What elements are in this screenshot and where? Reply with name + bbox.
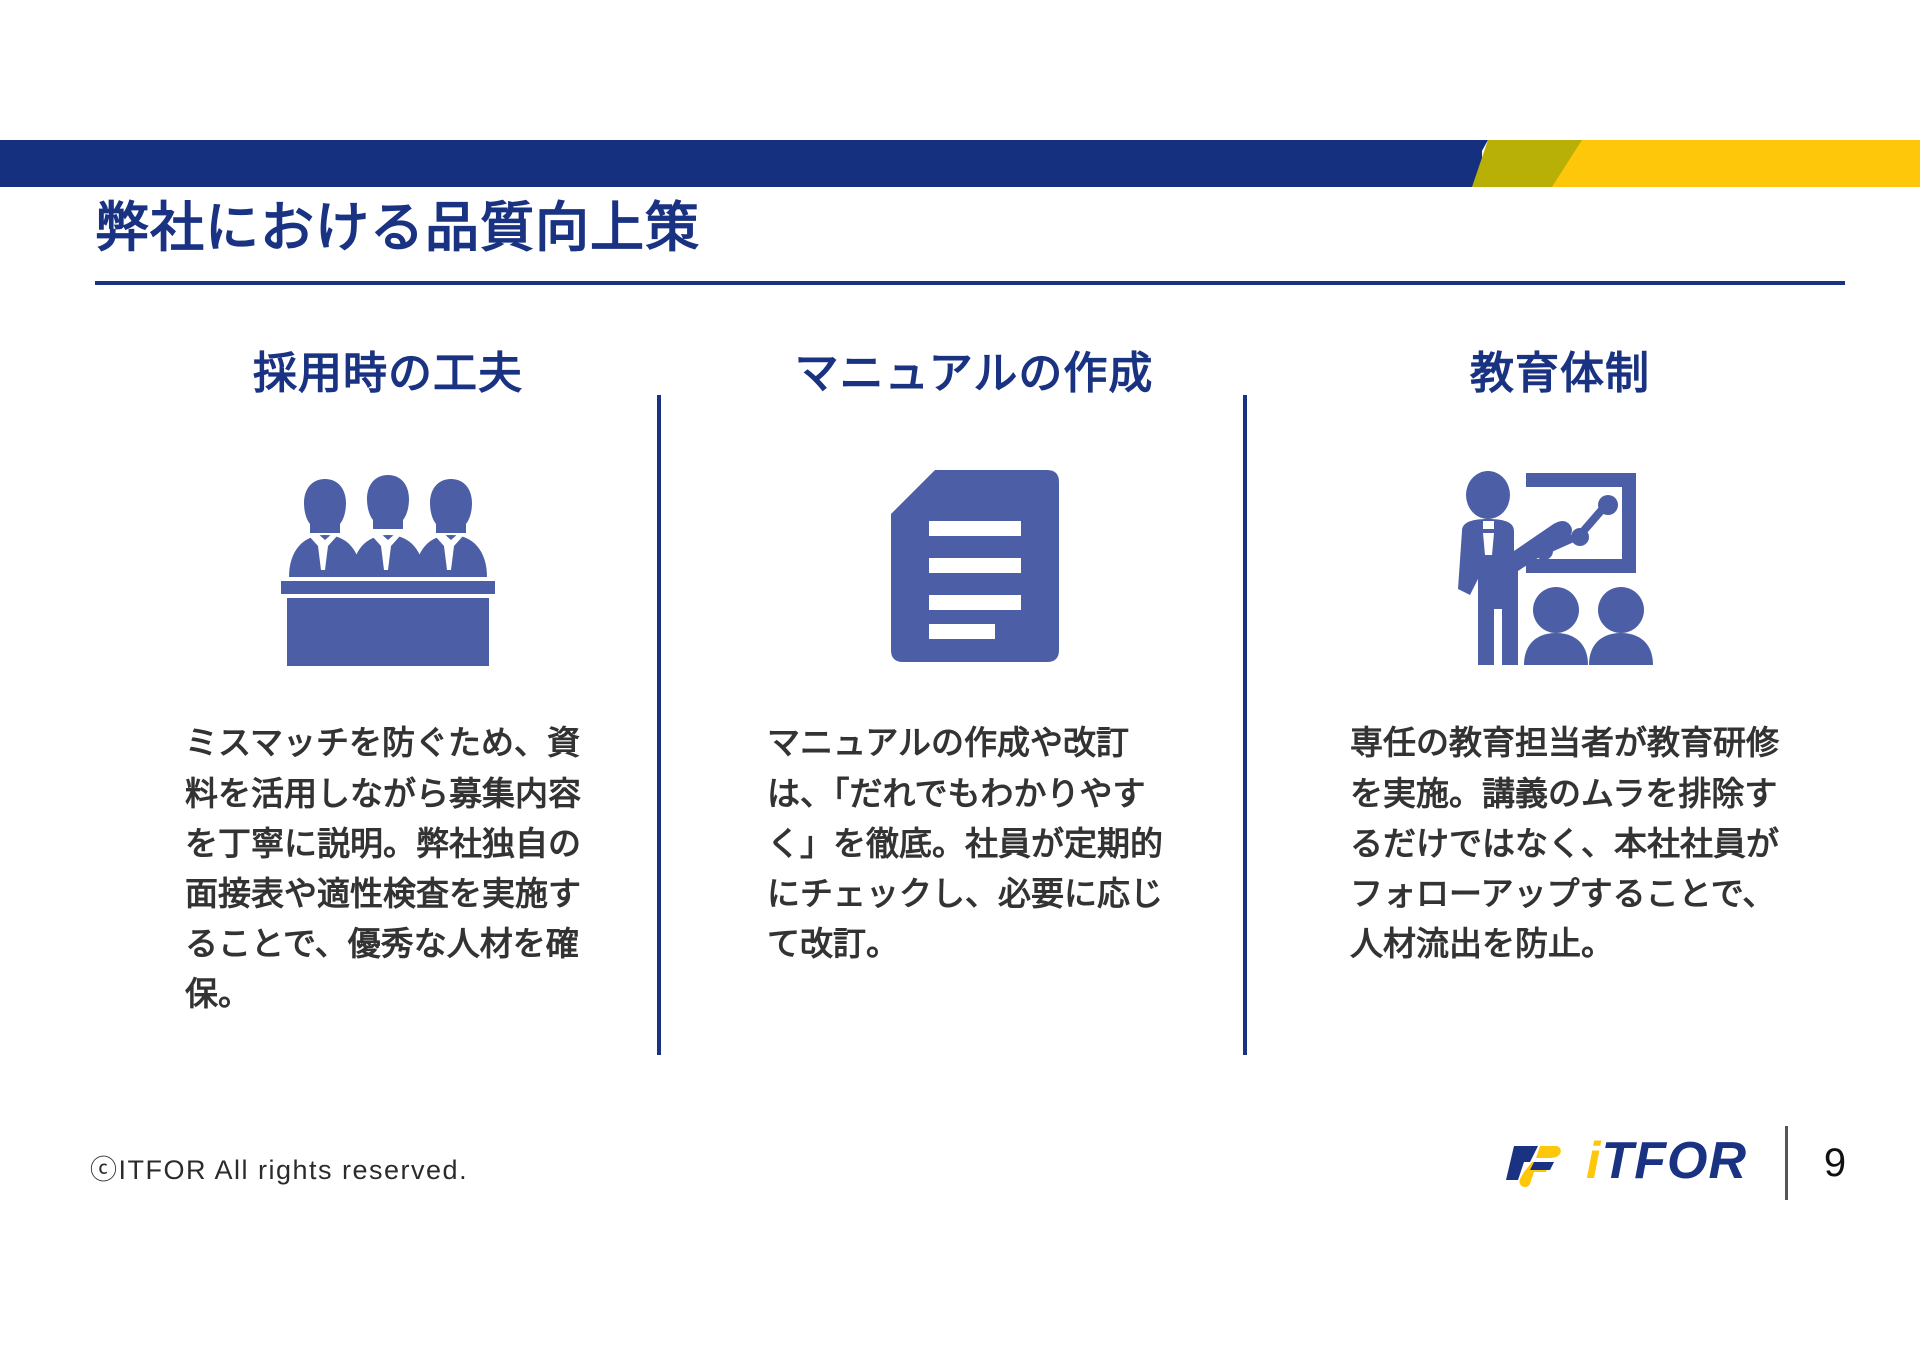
- banner-navy-band: [0, 140, 1482, 187]
- copyright-text: ⓒITFOR All rights reserved.: [90, 1148, 468, 1187]
- column-heading-2: マニュアルの作成: [795, 350, 1154, 398]
- document-icon: [887, 446, 1062, 686]
- page-number: 9: [1822, 1141, 1848, 1186]
- itfor-wordmark: iTFOR: [1586, 1135, 1747, 1187]
- itfor-wordmark-i: i: [1586, 1132, 1601, 1190]
- itfor-logo-mark: [1504, 1136, 1576, 1190]
- page-title: 弊社における品質向上策: [95, 200, 700, 257]
- column-recruiting: 採用時の工夫: [95, 350, 681, 1070]
- column-body-3: 専任の教育担当者が教育研修を実施。講義のムラを排除するだけではなく、本社社員がフ…: [1350, 718, 1780, 969]
- itfor-wordmark-rest: TFOR: [1601, 1132, 1747, 1190]
- interview-panel-icon: [273, 446, 503, 686]
- column-body-2: マニュアルの作成や改訂は、「だれでもわかりやすく」を徹底。社員が定期的にチェック…: [767, 718, 1187, 969]
- footer-separator: [1785, 1126, 1788, 1200]
- column-manual: マニュアルの作成 マニュアルの作成や改訂は、「だれでもわかりやすく」を徹底。社員…: [681, 350, 1267, 1070]
- banner-yellow-band: [1552, 140, 1920, 187]
- column-heading-3: 教育体制: [1470, 350, 1650, 398]
- column-training: 教育体制: [1267, 350, 1853, 1070]
- slide-canvas: 弊社における品質向上策 採用時の工夫: [0, 0, 1920, 1364]
- header-banner: [0, 140, 1920, 187]
- training-presentation-icon: [1448, 446, 1673, 686]
- title-underline: [95, 281, 1845, 285]
- footer-logo-area: iTFOR 9: [1504, 1126, 1848, 1200]
- column-body-1: ミスマッチを防ぐため、資料を活用しながら募集内容を丁寧に説明。弊社独自の面接表や…: [185, 718, 605, 1019]
- content-columns: 採用時の工夫: [95, 350, 1855, 1070]
- column-heading-1: 採用時の工夫: [253, 350, 523, 398]
